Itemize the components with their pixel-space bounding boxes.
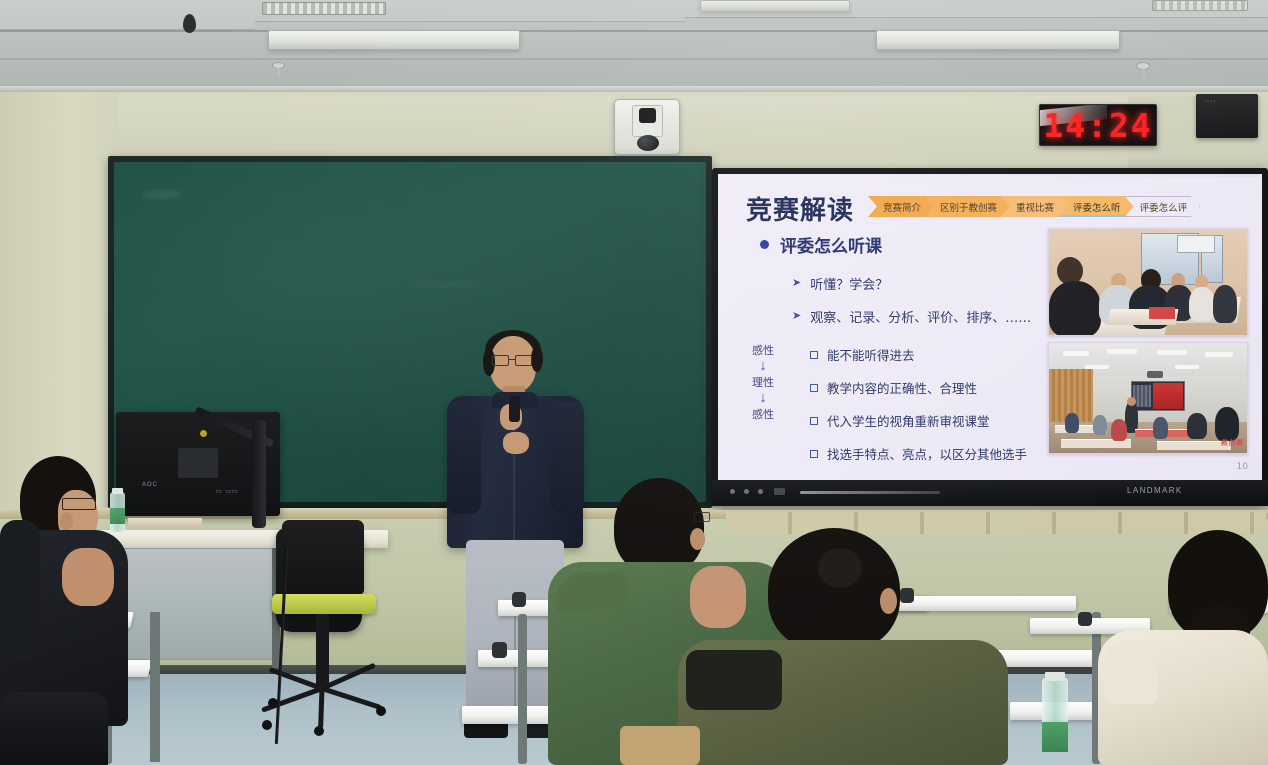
photo-red-item <box>1149 307 1175 319</box>
seat-hinge <box>900 588 914 603</box>
presenter-hair-side <box>531 346 543 372</box>
glasses-bridge <box>509 359 515 360</box>
monitor-model-label: ▭ ▭▭ <box>216 488 239 495</box>
breadcrumb-label: 评委怎么评 <box>1140 200 1188 214</box>
breadcrumb-label: 区别于教创赛 <box>940 200 997 214</box>
wall-ledge <box>726 512 1266 534</box>
photo-ceiling-light <box>1085 365 1109 369</box>
display-brand-logo: LANDMARK <box>1127 486 1183 495</box>
sub-bullet-1: ➤ 观察、记录、分析、评价、排序、…… <box>792 307 1031 326</box>
main-bullet: 评委怎么听课 <box>760 232 882 257</box>
desk-front-panel <box>104 548 274 660</box>
checkbox-icon <box>810 351 818 359</box>
breadcrumb-item-0[interactable]: 竞赛简介 <box>868 196 934 217</box>
checklist-item-3: 找选手特点、亮点，以区分其他选手 <box>810 444 1027 463</box>
menu-button-icon[interactable] <box>744 489 749 494</box>
camera-lens-icon <box>639 108 656 123</box>
audience-head <box>614 478 704 574</box>
chair-caster <box>314 726 324 736</box>
bezel-accent-strip <box>800 491 940 494</box>
photo-watermark: 教创赛 <box>1220 438 1244 448</box>
sprinkler-stem <box>277 68 280 77</box>
audience-ear <box>60 512 73 530</box>
chair-base-leg <box>321 663 376 691</box>
chair-backrest <box>282 520 364 594</box>
photo-person <box>1189 287 1215 321</box>
seat-post <box>150 612 160 762</box>
chalk-smudge <box>142 190 182 199</box>
breadcrumb-label: 重视比赛 <box>1016 200 1054 214</box>
ceiling-tile <box>0 0 255 30</box>
breadcrumb-label: 评委怎么听 <box>1073 200 1121 214</box>
presenter-arm-left <box>447 402 481 514</box>
presentation-slide: 竞赛解读 竞赛简介 区别于教创赛 重视比赛 评委怎么听 <box>718 174 1262 480</box>
audience-lap <box>0 692 108 765</box>
checklist-label: 找选手特点、亮点，以区分其他选手 <box>827 444 1027 463</box>
air-vent-icon <box>1152 0 1248 11</box>
ceiling-light <box>876 30 1120 50</box>
audience-ear <box>690 528 705 550</box>
audience-head <box>768 528 900 652</box>
photo-ceiling-light <box>1157 350 1187 355</box>
wall-speaker: ◦◦◦◦ <box>1196 94 1258 138</box>
digital-wall-clock: 14:24 <box>1039 104 1157 146</box>
photo-screen-content <box>1153 383 1183 409</box>
classroom-scene: 14:24 ◦◦◦◦ 竞赛解读 竞赛简介 <box>0 0 1268 765</box>
slide-top-edge <box>718 174 1262 177</box>
chevron-right-icon: ➤ <box>792 311 801 322</box>
ceiling-tracking-camera <box>614 99 680 155</box>
checklist-label: 代入学生的视角重新审视课堂 <box>827 411 990 430</box>
chair-caster <box>376 706 386 716</box>
flow-step-0: 感性 <box>752 342 774 358</box>
photo-ceiling-light <box>1063 351 1089 356</box>
flow-step-2: 感性 <box>752 406 774 422</box>
chair-post <box>316 614 329 686</box>
affect-flow-diagram: 感性 ↓ 理性 ↓ 感性 <box>752 342 774 422</box>
slide-number: 10 <box>1237 462 1248 472</box>
sub-bullet-label: 听懂？学会？ <box>810 274 888 293</box>
classroom-presentation-photo: 教创赛 <box>1048 342 1248 454</box>
breadcrumb-item-1[interactable]: 区别于教创赛 <box>925 196 1010 217</box>
glasses-icon <box>492 355 509 366</box>
checklist-item-2: 代入学生的视角重新审视课堂 <box>810 411 990 430</box>
checklist-label: 教学内容的正确性、合理性 <box>827 378 977 397</box>
chair-base-leg <box>269 667 323 691</box>
breadcrumb-item-2[interactable]: 重视比赛 <box>1001 196 1067 217</box>
monitor-arm-post <box>252 420 266 528</box>
desk-books <box>128 518 202 527</box>
photo-audience <box>1153 417 1168 439</box>
seat-hinge <box>1078 612 1092 626</box>
bottle-cap <box>1045 672 1065 681</box>
chevron-right-icon: ➤ <box>792 278 801 289</box>
power-button-icon[interactable] <box>730 489 735 494</box>
sub-bullet-label: 观察、记录、分析、评价、排序、…… <box>810 307 1031 326</box>
photo-ceiling-light <box>1205 352 1233 357</box>
display-bezel: LANDMARK <box>712 480 1268 506</box>
main-bullet-label: 评委怎么听课 <box>780 232 882 257</box>
checklist-item-0: 能不能听得进去 <box>810 345 915 364</box>
audience-hand <box>690 566 746 628</box>
arrow-down-icon: ↓ <box>759 360 767 372</box>
judges-panel-photo <box>1048 228 1248 336</box>
photo-ceiling-light <box>1107 349 1137 354</box>
ceiling-light <box>268 30 520 50</box>
photo-audience <box>1065 413 1079 433</box>
glasses-icon <box>62 498 96 510</box>
glasses-icon <box>694 512 710 522</box>
presenter-arm-right <box>550 402 584 512</box>
checklist-item-1: 教学内容的正确性、合理性 <box>810 378 977 397</box>
audience-hair-thin <box>818 548 862 588</box>
audience-folder <box>620 726 700 765</box>
seat-hinge <box>512 592 526 607</box>
bullet-dot-icon <box>760 240 769 249</box>
ceiling-sensor-icon <box>183 14 196 33</box>
arrow-down-icon: ↓ <box>759 392 767 404</box>
camera-dome-icon <box>637 135 659 151</box>
presenter-hand-lower <box>503 432 529 454</box>
checkbox-icon <box>810 450 818 458</box>
slide-title: 竞赛解读 <box>746 190 854 227</box>
photo-person <box>1049 281 1101 336</box>
seat-hinge <box>492 642 507 658</box>
audience-shoulder <box>0 520 40 660</box>
breadcrumb-label: 竞赛简介 <box>883 200 921 214</box>
audience-shoulder <box>556 572 628 612</box>
checkbox-icon <box>810 384 818 392</box>
audience-ear <box>880 588 897 614</box>
chair-base-leg <box>318 688 324 728</box>
photo-whiteboard <box>1177 235 1215 253</box>
photo-ceiling-light <box>1175 365 1199 369</box>
audience-bag <box>686 650 782 710</box>
air-vent-icon <box>262 2 386 15</box>
photo-presenter-head <box>1127 397 1136 406</box>
bottle-cap <box>112 488 123 494</box>
interactive-display[interactable]: 竞赛解读 竞赛简介 区别于教创赛 重视比赛 评委怎么听 <box>712 168 1268 506</box>
audience-hand <box>62 548 114 606</box>
ceiling-seam <box>0 58 1268 60</box>
clock-time: 14:24 <box>1043 106 1152 145</box>
seat-frame <box>518 614 527 764</box>
microphone[interactable] <box>509 396 520 422</box>
glasses-icon <box>515 355 532 366</box>
display-control-buttons[interactable] <box>730 489 763 494</box>
ceiling-light <box>700 0 850 12</box>
checklist-label: 能不能听得进去 <box>827 345 915 364</box>
bottle-label <box>1042 722 1068 752</box>
photo-audience <box>1187 413 1207 439</box>
checkbox-icon <box>810 417 818 425</box>
sprinkler-stem <box>1142 69 1145 79</box>
sub-bullet-0: ➤ 听懂？学会？ <box>792 274 888 293</box>
bottle-label <box>110 508 125 524</box>
breadcrumb: 竞赛简介 区别于教创赛 重视比赛 评委怎么听 评委怎么评 <box>868 196 1191 217</box>
monitor-vesa-mount <box>178 448 218 478</box>
ir-receiver-icon <box>774 488 785 495</box>
audience-shoulder <box>1104 640 1158 704</box>
breadcrumb-item-3[interactable]: 评委怎么听 <box>1058 196 1134 217</box>
photo-projector <box>1147 371 1163 378</box>
speaker-logo: ◦◦◦◦ <box>1204 99 1217 105</box>
breadcrumb-item-4[interactable]: 评委怎么评 <box>1125 196 1201 217</box>
chalk-smudge <box>414 282 484 288</box>
photo-audience <box>1215 407 1239 441</box>
volume-button-icon[interactable] <box>758 489 763 494</box>
monitor-brand-logo: AOC <box>142 482 158 488</box>
flow-step-1: 理性 <box>752 374 774 390</box>
photo-person <box>1213 285 1237 323</box>
display-panel: 竞赛解读 竞赛简介 区别于教创赛 重视比赛 评委怎么听 <box>718 174 1262 480</box>
photo-audience <box>1093 415 1107 435</box>
chair-base-leg <box>321 686 382 710</box>
chair-seat <box>272 594 376 614</box>
monitor-arm-knob[interactable] <box>200 430 207 437</box>
chair-caster <box>262 720 272 730</box>
photo-audience <box>1111 419 1127 441</box>
